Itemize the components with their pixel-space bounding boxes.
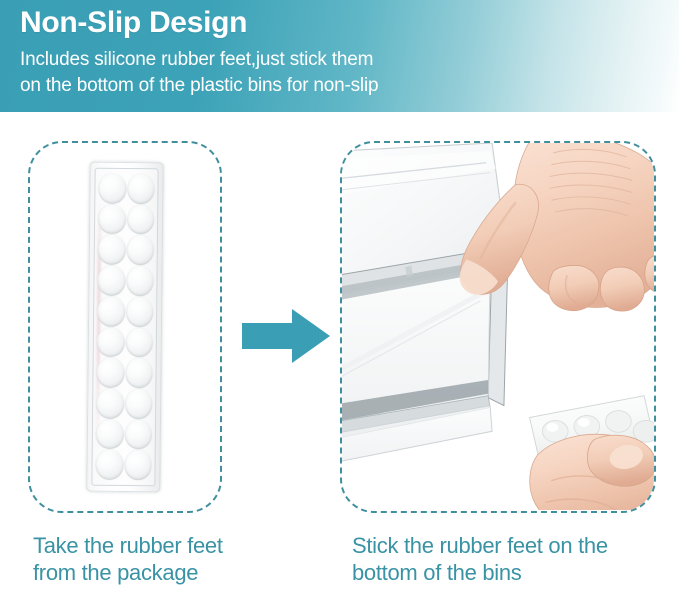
rubber-foot [96, 358, 124, 388]
step-2-caption: Stick the rubber feet on the bottom of t… [352, 532, 652, 586]
header-banner: Non-Slip Design Includes silicone rubber… [0, 0, 679, 112]
step-1-panel [28, 141, 222, 513]
rubber-foot [97, 266, 125, 296]
banner-subtitle: Includes silicone rubber feet,just stick… [20, 47, 540, 99]
rubber-foot [124, 420, 152, 450]
rubber-foot [124, 450, 152, 480]
stick-feet-illustration [342, 143, 654, 510]
rubber-foot [96, 389, 124, 419]
rubber-foot [95, 450, 123, 480]
rubber-foot [126, 235, 154, 265]
rubber-foot [97, 327, 125, 357]
rubber-foot [98, 204, 126, 234]
rubber-foot [126, 205, 154, 235]
rubber-foot [97, 297, 125, 327]
rubber-foot [98, 235, 126, 265]
rubber-foot [126, 297, 154, 327]
hand-holding-strip [530, 396, 654, 511]
step-2-panel [340, 141, 656, 513]
banner-subtitle-line-1: Includes silicone rubber feet,just stick… [20, 47, 540, 73]
rubber-foot [125, 328, 153, 358]
blister-pack-image [86, 162, 163, 493]
rubber-feet-grid [94, 173, 155, 482]
page-title: Non-Slip Design [20, 4, 247, 42]
rubber-foot [126, 266, 154, 296]
rubber-foot [127, 174, 155, 204]
step-1-caption: Take the rubber feet from the package [33, 532, 248, 586]
rubber-foot [125, 358, 153, 388]
banner-subtitle-line-2: on the bottom of the plastic bins for no… [20, 73, 540, 99]
rubber-foot [125, 389, 153, 419]
plastic-bin [342, 143, 508, 469]
rubber-foot [96, 419, 124, 449]
rubber-foot [98, 174, 126, 204]
arrow-right-icon [240, 305, 332, 367]
